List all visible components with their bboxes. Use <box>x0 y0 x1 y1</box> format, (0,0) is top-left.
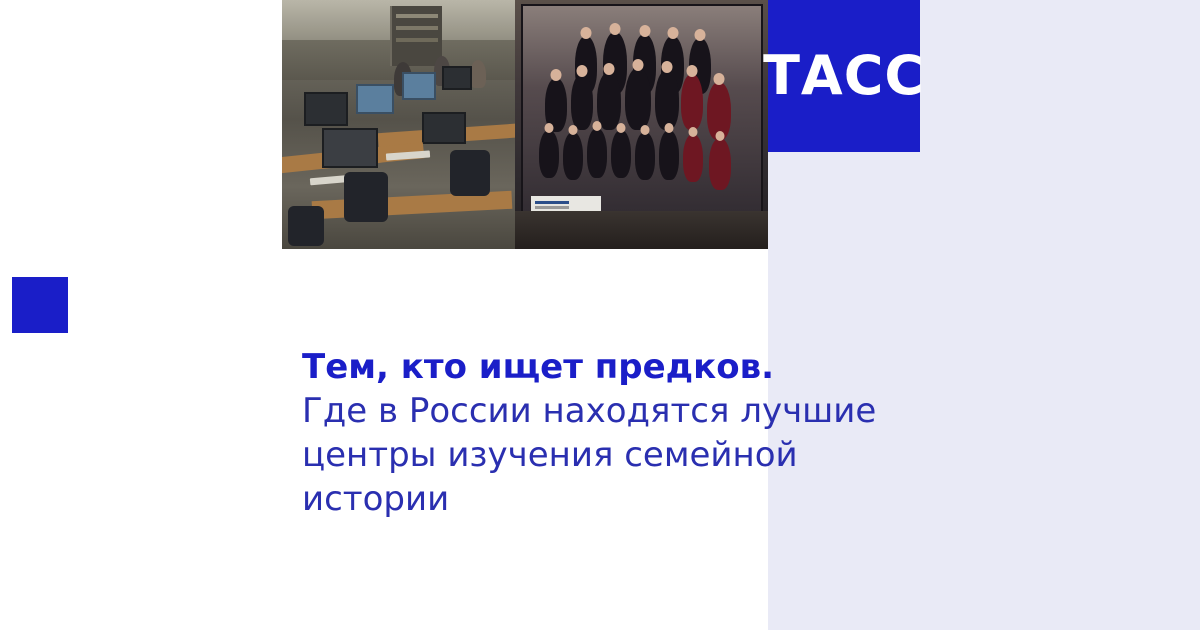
portrait-figure <box>563 132 583 180</box>
portrait-figure <box>587 128 607 178</box>
bookshelf <box>390 6 442 66</box>
portrait-figure <box>539 130 559 178</box>
figure-head <box>545 123 554 133</box>
portrait-figure <box>659 130 679 180</box>
monitor <box>322 128 378 168</box>
headline-lead: Тем, кто ищет предков. <box>302 345 922 389</box>
portrait-figure <box>611 130 631 178</box>
monitor <box>402 72 436 100</box>
header-photo <box>282 0 768 249</box>
framed-family-photo <box>523 6 761 211</box>
portrait-figure <box>597 72 621 130</box>
portrait-figure <box>683 134 703 182</box>
accent-square <box>12 277 68 333</box>
chair <box>288 206 324 246</box>
figure-head <box>593 121 602 131</box>
floor <box>515 211 768 249</box>
photo-family-portrait <box>515 0 768 249</box>
figure-head <box>695 29 706 41</box>
figure-head <box>617 123 626 133</box>
tass-logo: ТАСС <box>768 0 920 152</box>
page-title: Тем, кто ищет предков. Где в России нахо… <box>302 345 922 521</box>
figure-head <box>639 25 650 37</box>
figure-head <box>716 131 725 141</box>
figure-head <box>662 61 673 73</box>
figure-head <box>604 63 615 75</box>
figure-head <box>581 27 592 39</box>
chair <box>344 172 388 222</box>
figure-head <box>577 65 588 77</box>
figure-head <box>687 65 698 77</box>
portrait-figure <box>655 70 679 130</box>
person <box>470 60 486 88</box>
portrait-figure <box>571 74 593 130</box>
figure-head <box>667 27 678 39</box>
photo-reading-room <box>282 0 515 249</box>
headline-rest: Где в России находятся лучшие центры изу… <box>302 389 922 521</box>
portrait-figure <box>681 74 703 130</box>
figure-head <box>689 127 698 137</box>
figure-head <box>633 59 644 71</box>
figure-head <box>665 123 674 133</box>
figure-head <box>714 73 725 85</box>
monitor <box>422 112 466 144</box>
figure-head <box>569 125 578 135</box>
portrait-figure <box>625 68 651 130</box>
figure-head <box>641 125 650 135</box>
figure-head <box>551 69 562 81</box>
portrait-figure <box>709 138 731 190</box>
tass-logo-text: ТАСС <box>763 49 925 103</box>
monitor <box>304 92 348 126</box>
chair <box>450 150 490 196</box>
monitor <box>356 84 394 114</box>
monitor <box>442 66 472 90</box>
figure-head <box>610 23 621 35</box>
portrait-figure <box>635 132 655 180</box>
social-share-card: ТАСС Тем, кто ищет предков. Где в России… <box>0 0 1200 630</box>
